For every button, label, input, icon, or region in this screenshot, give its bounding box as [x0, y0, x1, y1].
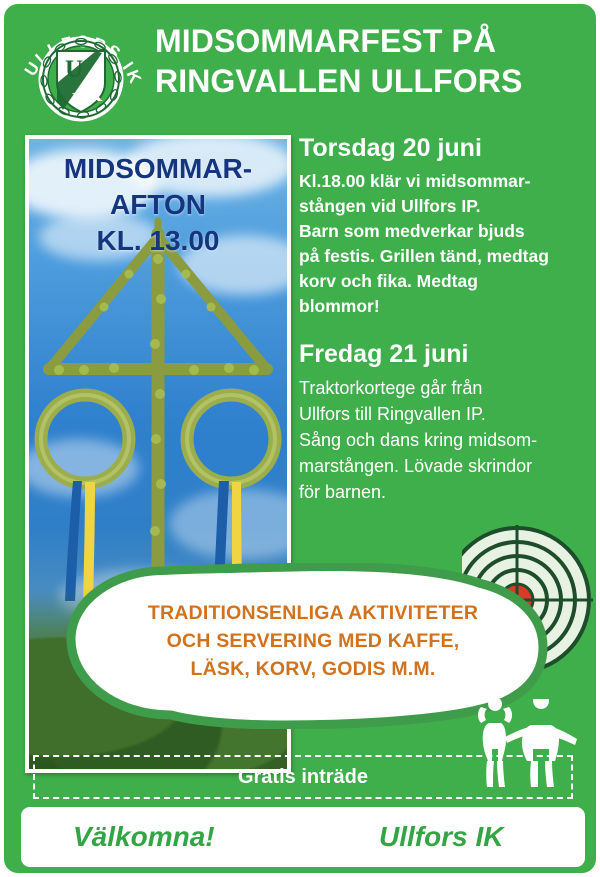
photo-caption-line-2: AFTON [29, 187, 287, 223]
admission-label: Gratis inträde [238, 766, 368, 789]
logo-letter-i: I [72, 89, 79, 108]
schedule-line: Sång och dans kring midsom- [299, 427, 579, 453]
schedule-line: på festis. Grillen tänd, medtag [299, 244, 579, 269]
activities-line-1: TRADITIONSENLIGA AKTIVITETER [103, 599, 523, 627]
schedule-line: Kl.18.00 klär vi midsommar- [299, 169, 579, 194]
schedule-line: marstången. Lövade skrindor [299, 453, 579, 479]
schedule-body-thursday: Kl.18.00 klär vi midsommar- stången vid … [299, 169, 579, 319]
schedule-line: för barnen. [299, 479, 579, 505]
schedule-heading-thursday: Torsdag 20 juni [299, 133, 579, 163]
poster-header: ULLFORS IK [7, 7, 593, 125]
schedule-line: blommor! [299, 294, 579, 319]
schedule-line: Ullfors till Ringvallen IP. [299, 401, 579, 427]
ullfors-ik-logo: ULLFORS IK [17, 11, 145, 123]
activities-line-2: OCH SERVERING MED KAFFE, [103, 627, 523, 655]
photo-caption-line-3: KL. 13.00 [29, 223, 287, 259]
schedule-column: Torsdag 20 juni Kl.18.00 klär vi midsomm… [299, 133, 579, 525]
schedule-line: stången vid Ullfors IP. [299, 194, 579, 219]
poster-frame: ULLFORS IK [4, 4, 596, 873]
schedule-line: korv och fika. Medtag [299, 269, 579, 294]
photo-caption: MIDSOMMAR- AFTON KL. 13.00 [29, 151, 287, 259]
poster-inner: ULLFORS IK [7, 7, 593, 870]
welcome-text: Välkomna! [73, 821, 215, 853]
title-line-1: MIDSOMMARFEST PÅ [155, 21, 579, 61]
activities-text: TRADITIONSENLIGA AKTIVITETER OCH SERVERI… [103, 599, 523, 683]
logo-letter-k: K [85, 81, 102, 106]
schedule-line: Traktorkortege går från [299, 375, 579, 401]
schedule-body-friday: Traktorkortege går från Ullfors till Rin… [299, 375, 579, 505]
schedule-line: Barn som medverkar bjuds [299, 219, 579, 244]
activities-line-3: LÄSK, KORV, GODIS M.M. [103, 655, 523, 683]
schedule-heading-friday: Fredag 21 juni [299, 339, 579, 369]
admission-box: Gratis inträde [33, 755, 573, 799]
title-line-2: RINGVALLEN ULLFORS [155, 61, 579, 101]
photo-caption-line-1: MIDSOMMAR- [29, 151, 287, 187]
poster: ULLFORS IK [0, 0, 600, 877]
page-title: MIDSOMMARFEST PÅ RINGVALLEN ULLFORS [155, 21, 579, 101]
poster-footer: Välkomna! Ullfors IK [21, 807, 585, 867]
logo-letter-u: U [65, 56, 83, 83]
club-name: Ullfors IK [379, 821, 503, 853]
